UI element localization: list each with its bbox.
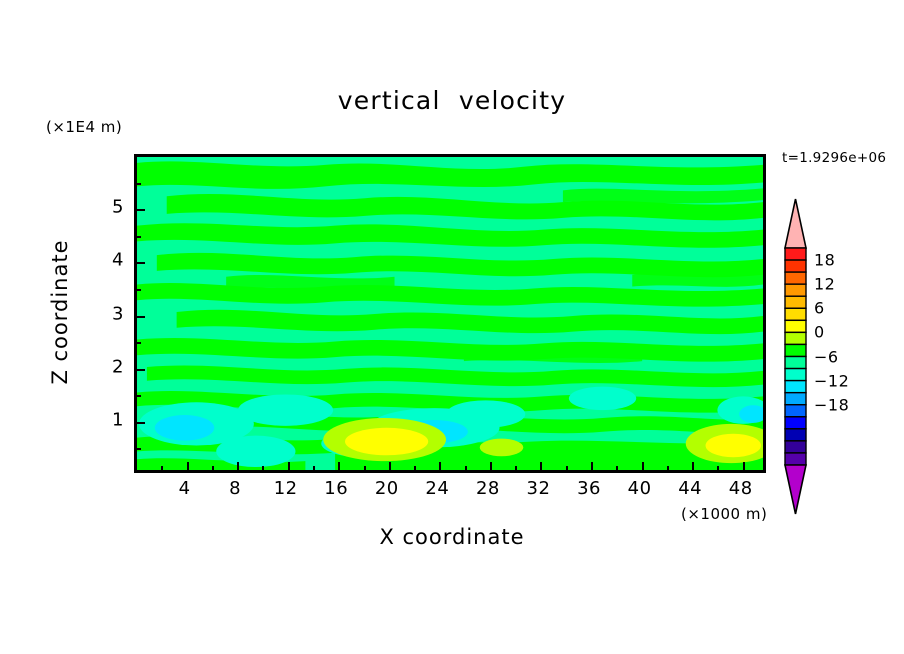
x-axis-minor-tick — [262, 466, 264, 471]
x-axis-tick — [540, 462, 542, 471]
y-axis-minor-tick — [136, 342, 141, 344]
colorbar-under-arrow — [785, 465, 806, 514]
x-axis-tick — [439, 462, 441, 471]
colorbar-band — [785, 332, 806, 344]
colorbar-tick-label: −18 — [814, 395, 849, 414]
x-axis-tick — [591, 462, 593, 471]
x-axis-tick-label: 28 — [476, 478, 500, 499]
colorbar-band — [785, 381, 806, 393]
colorbar-band — [785, 296, 806, 308]
y-axis-tick — [136, 262, 145, 264]
x-axis-minor-tick — [717, 466, 719, 471]
x-axis-tick-label: 44 — [678, 478, 702, 499]
y-axis-minor-tick — [136, 289, 141, 291]
x-axis-tick-label: 32 — [527, 478, 551, 499]
y-axis-tick — [136, 422, 145, 424]
colorbar-band — [785, 393, 806, 405]
x-axis-minor-tick — [515, 466, 517, 471]
colorbar-tick-label: 18 — [814, 251, 835, 270]
x-axis-tick — [288, 462, 290, 471]
vertical-velocity-field — [137, 157, 763, 470]
y-axis-tick-label: 3 — [100, 303, 124, 324]
colorbar-band — [785, 429, 806, 441]
x-axis-minor-tick — [667, 466, 669, 471]
x-axis-tick-label: 40 — [628, 478, 652, 499]
x-axis-minor-tick — [414, 466, 416, 471]
x-axis-tick — [692, 462, 694, 471]
x-axis-tick — [642, 462, 644, 471]
y-axis-title: Z coordinate — [48, 212, 72, 412]
x-axis-tick — [187, 462, 189, 471]
colorbar-tick-label: 12 — [814, 275, 835, 294]
x-axis-minor-tick — [566, 466, 568, 471]
x-axis-minor-tick — [465, 466, 467, 471]
x-axis-minor-tick — [364, 466, 366, 471]
y-axis-tick — [136, 316, 145, 318]
x-axis-tick — [490, 462, 492, 471]
colorbar-band — [785, 453, 806, 465]
x-axis-tick-label: 12 — [274, 478, 298, 499]
colorbar-tick-label: −12 — [814, 371, 849, 390]
x-axis-tick — [743, 462, 745, 471]
colorbar-band — [785, 284, 806, 296]
x-axis-tick-label: 48 — [729, 478, 753, 499]
x-axis-tick — [338, 462, 340, 471]
y-axis-tick-label: 1 — [100, 409, 124, 430]
x-axis-tick-label: 20 — [375, 478, 399, 499]
colorbar-tick-label: −6 — [814, 347, 839, 366]
colorbar-band — [785, 405, 806, 417]
timestamp-annotation: t=1.9296e+06 — [782, 150, 886, 166]
y-axis-tick-label: 4 — [100, 250, 124, 271]
colorbar-band — [785, 308, 806, 320]
x-axis-minor-tick — [161, 466, 163, 471]
y-axis-tick-label: 2 — [100, 356, 124, 377]
colorbar-band — [785, 417, 806, 429]
colorbar-band — [785, 441, 806, 453]
x-axis-tick — [389, 462, 391, 471]
x-axis-tick-label: 8 — [229, 478, 241, 499]
colorbar-band — [785, 357, 806, 369]
chart-canvas: vertical velocity (×1E4 m) t=1.9296e+06 … — [0, 0, 904, 654]
y-axis-tick-label: 5 — [100, 197, 124, 218]
x-axis-unit-label: (×1000 m) — [681, 505, 767, 523]
chart-title: vertical velocity — [0, 86, 904, 115]
y-axis-minor-tick — [136, 183, 141, 185]
x-axis-tick — [237, 462, 239, 471]
x-axis-tick-label: 24 — [425, 478, 449, 499]
y-axis-minor-tick — [136, 395, 141, 397]
x-axis-minor-tick — [212, 466, 214, 471]
colorbar-band — [785, 369, 806, 381]
x-axis-tick-label: 36 — [577, 478, 601, 499]
colorbar-band — [785, 272, 806, 284]
x-axis-minor-tick — [313, 466, 315, 471]
colorbar-band — [785, 248, 806, 260]
x-axis-title: X coordinate — [0, 525, 904, 549]
y-axis-tick — [136, 369, 145, 371]
colorbar[interactable] — [784, 198, 807, 515]
colorbar-band — [785, 344, 806, 356]
x-axis-tick-label: 16 — [324, 478, 348, 499]
colorbar-band — [785, 260, 806, 272]
y-axis-minor-tick — [136, 236, 141, 238]
contour-plot-area — [134, 154, 766, 473]
y-axis-tick — [136, 209, 145, 211]
y-axis-unit-label: (×1E4 m) — [46, 118, 122, 136]
colorbar-tick-label: 6 — [814, 299, 825, 318]
x-axis-tick-label: 4 — [179, 478, 191, 499]
colorbar-tick-label: 0 — [814, 323, 825, 342]
colorbar-over-arrow — [785, 199, 806, 248]
colorbar-band — [785, 320, 806, 332]
x-axis-minor-tick — [616, 466, 618, 471]
y-axis-minor-tick — [136, 448, 141, 450]
